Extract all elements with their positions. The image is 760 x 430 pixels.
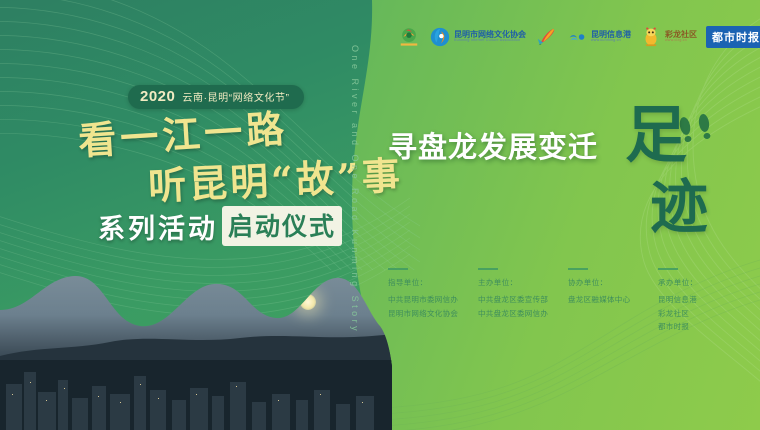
- metropolis-times-logo[interactable]: 都市时报: [706, 26, 760, 48]
- kunming-cityscape-photo: [0, 270, 392, 430]
- city-lights: [0, 360, 392, 430]
- badge-year: 2020: [140, 88, 175, 105]
- association-logo-en: Kunming Internet Culture Association: [454, 39, 526, 43]
- series-label: 系列活动: [98, 207, 218, 246]
- credit-item: 中共盘龙区委宣传部: [478, 293, 568, 307]
- sponsor-logo-row: 昆明市网络文化协会 Kunming Internet Culture Assoc…: [398, 26, 760, 48]
- credits-block: 指导单位： 中共昆明市委网信办 昆明市网络文化协会 主办单位： 中共盘龙区委宣传…: [388, 268, 748, 334]
- credit-label: 承办单位：: [658, 277, 748, 288]
- rocket-logo[interactable]: [535, 26, 557, 48]
- credit-divider: [658, 268, 678, 270]
- dragon-mascot-icon: [640, 26, 662, 48]
- cailong-caption: 彩龙社区 www.clzg.cn: [665, 31, 697, 43]
- credit-item: 彩龙社区: [658, 307, 748, 321]
- association-emblem-icon: [429, 26, 451, 48]
- big-char-zu: 足: [625, 104, 687, 166]
- kunming-tourism-logo[interactable]: [398, 26, 420, 48]
- credit-divider: [388, 268, 408, 270]
- series-highlight-badge: 启动仪式: [222, 206, 342, 246]
- series-launch-row: 系列活动 启动仪式: [98, 206, 342, 246]
- credit-column-organizer: 承办单位： 昆明信息港 彩龙社区 都市时报: [658, 268, 748, 334]
- credit-item: 盘龙区融媒体中心: [568, 293, 658, 307]
- poster-canvas: 2020 云南·昆明“网络文化节” 看一江一路 听昆明“故”事 系列活动 启动仪…: [0, 0, 760, 430]
- credit-label: 协办单位：: [568, 277, 658, 288]
- information-port-caption: 昆明信息港 www.kunming.cn: [591, 31, 631, 43]
- credit-item: 都市时报: [658, 320, 748, 334]
- cailong-en: www.clzg.cn: [665, 39, 697, 43]
- association-logo-caption: 昆明市网络文化协会 Kunming Internet Culture Assoc…: [454, 31, 526, 43]
- credit-item: 昆明市网络文化协会: [388, 307, 478, 321]
- credit-item: 昆明信息港: [658, 293, 748, 307]
- cailong-community-logo[interactable]: 彩龙社区 www.clzg.cn: [640, 26, 697, 48]
- information-port-en: www.kunming.cn: [591, 39, 631, 43]
- credit-label: 主办单位：: [478, 277, 568, 288]
- city-skyline: [0, 360, 392, 430]
- credit-column-host: 主办单位： 中共盘龙区委宣传部 中共盘龙区委网信办: [478, 268, 568, 334]
- calligraphy-line-2: 听昆明“故”事: [147, 144, 404, 210]
- big-char-ji: 迹: [650, 178, 708, 236]
- main-title: 寻盘龙发展变迁: [388, 124, 598, 166]
- kunming-information-port-logo[interactable]: 昆明信息港 www.kunming.cn: [566, 26, 631, 48]
- kunming-internet-culture-association-logo[interactable]: 昆明市网络文化协会 Kunming Internet Culture Assoc…: [429, 26, 526, 48]
- credit-label: 指导单位：: [388, 277, 478, 288]
- credit-divider: [568, 268, 588, 270]
- credit-item: 中共昆明市委网信办: [388, 293, 478, 307]
- information-port-icon: [566, 26, 588, 48]
- credit-divider: [478, 268, 498, 270]
- tourism-emblem-icon: [398, 26, 420, 48]
- vertical-english-slogan: One River and One Road Kunming Story: [350, 45, 360, 375]
- credit-item: 中共盘龙区委网信办: [478, 307, 568, 321]
- credit-column-cohost: 协办单位： 盘龙区融媒体中心: [568, 268, 658, 334]
- credit-column-guidance: 指导单位： 中共昆明市委网信办 昆明市网络文化协会: [388, 268, 478, 334]
- rocket-icon: [535, 26, 557, 48]
